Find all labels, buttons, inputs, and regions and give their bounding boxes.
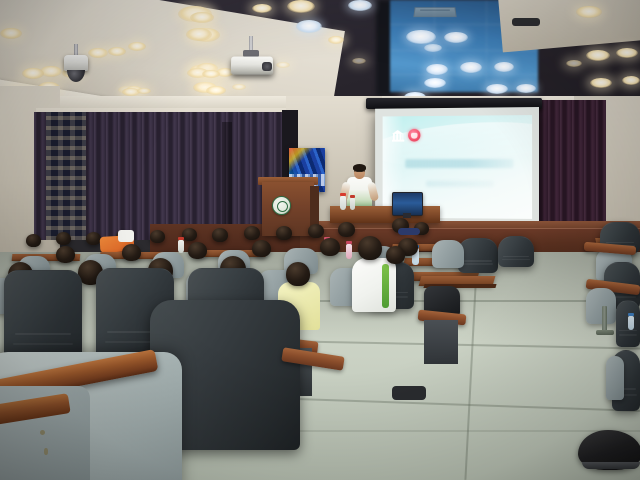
audience-member [358, 236, 382, 260]
monitor-stand [403, 213, 411, 218]
slide-title-text [405, 159, 513, 168]
dome-security-camera [64, 55, 88, 71]
water-bottle-red-cap [340, 196, 346, 210]
audience-member [252, 240, 271, 257]
downlight [0, 28, 22, 39]
audience-member [338, 222, 355, 237]
downlight [444, 32, 468, 43]
water-bottle-pink [346, 244, 352, 259]
shoe-sole [582, 462, 640, 469]
downlight [486, 84, 508, 94]
downlight [426, 64, 448, 75]
downlight [622, 76, 640, 85]
downlight [232, 84, 246, 90]
downlight [108, 47, 126, 56]
white-green-shirt-attendee [352, 258, 396, 312]
downlight [616, 48, 638, 58]
downlight [576, 6, 602, 18]
audience-member [212, 228, 228, 242]
downlight [328, 36, 344, 44]
downlight [406, 30, 436, 44]
water-bottle-clear [350, 198, 355, 210]
presenter-table [330, 206, 440, 223]
seat-leg [602, 306, 607, 332]
auditorium-seat [458, 238, 498, 273]
audience-member [150, 230, 165, 243]
water-bottle-clear [628, 316, 634, 330]
downlight [590, 78, 612, 88]
audience-member [308, 224, 324, 238]
auditorium-seat [586, 288, 616, 324]
downlight [424, 78, 446, 88]
downlight [88, 48, 108, 58]
auditorium-seat [498, 236, 534, 267]
projector-lens [262, 62, 272, 71]
audience-member [286, 262, 310, 286]
audience-member [56, 232, 71, 245]
seat-fabric-mark [40, 430, 45, 435]
downlight [296, 20, 322, 33]
audience-cap [398, 228, 420, 235]
shirt-green-stripe [382, 264, 389, 308]
ceiling-fixture [512, 18, 540, 26]
water-bottle-clear [178, 240, 184, 253]
audience-member [56, 246, 75, 263]
audience-member [26, 234, 41, 247]
downlight [352, 58, 366, 64]
audience-member [122, 244, 141, 261]
downlight [460, 62, 482, 73]
downlight [348, 0, 372, 11]
downlight [22, 68, 44, 79]
downlight [202, 70, 220, 78]
downlight [190, 12, 214, 23]
audience-member [182, 228, 197, 241]
seat-side-panel [424, 320, 458, 364]
downlight [424, 44, 442, 52]
seat-fabric-mark [44, 448, 48, 455]
floor-tile-line [300, 430, 640, 432]
auditorium-seat [606, 356, 624, 400]
audience-member [386, 246, 405, 264]
white-object [118, 230, 134, 242]
presenter-glasses [356, 170, 363, 172]
slide-subtitle-text [426, 181, 494, 187]
downlight [252, 4, 272, 13]
downlight [137, 88, 151, 94]
downlight [586, 50, 610, 61]
audience-member [86, 232, 101, 245]
downlight [287, 0, 315, 13]
downlight [516, 84, 536, 93]
audience-leg [392, 386, 426, 400]
downlight [276, 62, 290, 68]
downlight [206, 86, 226, 95]
audience-member [276, 226, 292, 240]
audience-member [188, 242, 207, 259]
auditorium-seat [432, 240, 464, 268]
red-circular-logo [408, 129, 420, 142]
ceiling-air-vent [413, 7, 456, 17]
audience-member [320, 238, 340, 256]
curtain-plaid-panel [46, 112, 86, 240]
audience-member [244, 226, 260, 240]
curtain-fold [222, 122, 232, 238]
podium-emblem [272, 196, 291, 215]
downlight [566, 60, 582, 67]
seat-foot [596, 330, 614, 335]
downlight [128, 42, 146, 51]
downlight [186, 28, 212, 41]
lecture-hall-photo [0, 0, 640, 480]
downlight [494, 62, 514, 72]
